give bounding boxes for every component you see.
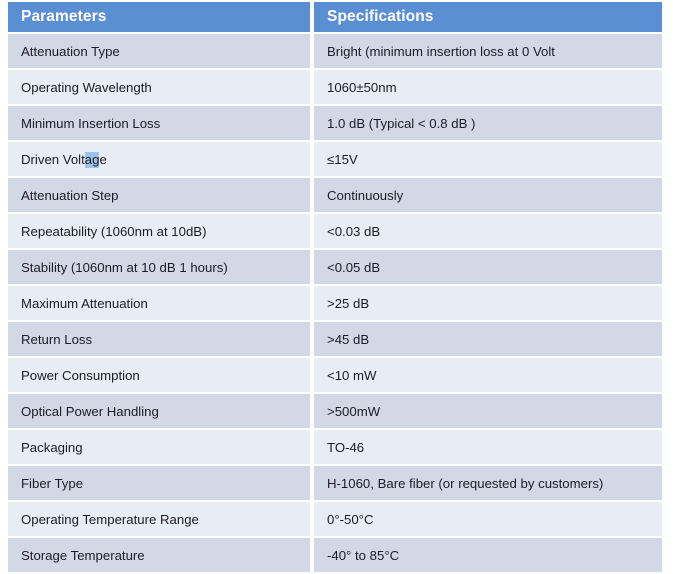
specification-cell: Bright (minimum insertion loss at 0 Volt [314,34,662,70]
text-selection-artifact: ag [85,152,100,168]
table-header-row: Parameters Specifications [8,2,662,34]
parameter-cell: Attenuation Step [8,178,314,214]
table-row: Storage Temperature-40° to 85°C [8,538,662,574]
specifications-table-container: Parameters Specifications Attenuation Ty… [8,2,662,574]
table-row: Operating Wavelength1060±50nm [8,70,662,106]
parameter-cell: Fiber Type [8,466,314,502]
specification-cell: >45 dB [314,322,662,358]
table-row: Maximum Attenuation>25 dB [8,286,662,322]
parameter-cell: Packaging [8,430,314,466]
table-row: Return Loss>45 dB [8,322,662,358]
parameter-cell: Operating Temperature Range [8,502,314,538]
specification-cell: >25 dB [314,286,662,322]
parameter-cell: Stability (1060nm at 10 dB 1 hours) [8,250,314,286]
specification-cell: >500mW [314,394,662,430]
specification-cell: 0°-50°C [314,502,662,538]
table-row: Attenuation TypeBright (minimum insertio… [8,34,662,70]
specifications-table: Parameters Specifications Attenuation Ty… [8,2,662,574]
parameter-cell: Operating Wavelength [8,70,314,106]
parameter-cell: Repeatability (1060nm at 10dB) [8,214,314,250]
specification-cell: <0.03 dB [314,214,662,250]
parameter-cell: Attenuation Type [8,34,314,70]
specification-cell: TO-46 [314,430,662,466]
table-row: Stability (1060nm at 10 dB 1 hours)<0.05… [8,250,662,286]
table-row: Fiber TypeH-1060, Bare fiber (or request… [8,466,662,502]
specification-cell: Continuously [314,178,662,214]
column-header-specifications: Specifications [314,2,662,34]
specification-cell: <10 mW [314,358,662,394]
table-row: Minimum Insertion Loss1.0 dB (Typical < … [8,106,662,142]
parameter-cell: Maximum Attenuation [8,286,314,322]
table-row: Driven Voltage≤15V [8,142,662,178]
parameter-cell: Storage Temperature [8,538,314,574]
parameter-cell: Minimum Insertion Loss [8,106,314,142]
table-row: Attenuation StepContinuously [8,178,662,214]
specification-cell: -40° to 85°C [314,538,662,574]
parameter-cell: Driven Voltage [8,142,314,178]
table-row: Operating Temperature Range0°-50°C [8,502,662,538]
table-row: Power Consumption<10 mW [8,358,662,394]
specification-cell: ≤15V [314,142,662,178]
specification-cell: H-1060, Bare fiber (or requested by cust… [314,466,662,502]
table-header: Parameters Specifications [8,2,662,34]
table-body: Attenuation TypeBright (minimum insertio… [8,34,662,574]
table-row: Optical Power Handling>500mW [8,394,662,430]
specification-cell: 1060±50nm [314,70,662,106]
parameter-cell: Optical Power Handling [8,394,314,430]
table-row: Repeatability (1060nm at 10dB)<0.03 dB [8,214,662,250]
parameter-cell: Power Consumption [8,358,314,394]
specification-cell: 1.0 dB (Typical < 0.8 dB ) [314,106,662,142]
specification-cell: <0.05 dB [314,250,662,286]
table-row: PackagingTO-46 [8,430,662,466]
parameter-cell: Return Loss [8,322,314,358]
column-header-parameters: Parameters [8,2,314,34]
